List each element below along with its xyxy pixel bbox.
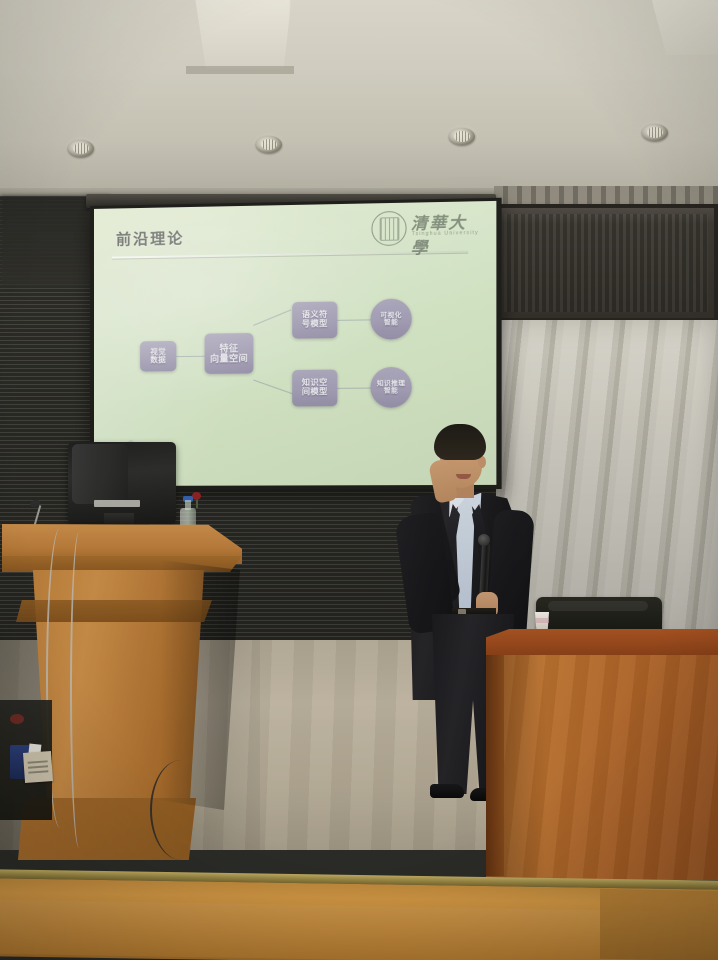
stage-front-right (600, 889, 718, 960)
av-cable (150, 760, 212, 860)
ceiling (0, 0, 718, 196)
diagram-node: 知识空 间模型 (292, 370, 337, 407)
flower-stem (196, 499, 198, 508)
av-cable (70, 532, 88, 848)
microphone-head (478, 534, 490, 546)
red-flower (192, 492, 201, 500)
equipment-tag (23, 751, 53, 783)
diagram-edge (337, 388, 370, 389)
diagram-edge (337, 319, 370, 320)
monitor-back-panel (72, 444, 128, 504)
paper-cup-band (535, 618, 549, 623)
lecture-hall-photo: 前沿理论 清華大學 Tsinghua University 视觉 数据 (0, 0, 718, 960)
diagram-node: 知识推理 智能 (370, 367, 411, 408)
shoe-left (430, 784, 464, 798)
diagram-edge (176, 356, 204, 357)
hair (434, 424, 486, 460)
recessed-downlight (68, 140, 94, 157)
monitor-label (94, 500, 140, 507)
recessed-downlight (449, 128, 475, 145)
diagram-node: 视觉 数据 (140, 341, 176, 372)
recessed-downlight (256, 136, 282, 153)
equipment-indicator (10, 714, 24, 724)
diagram-edge (253, 309, 291, 326)
diagram-edge (253, 380, 294, 395)
coffer-shadow (186, 66, 294, 74)
diagram-node: 特征 向量空间 (205, 333, 254, 374)
window-valance (494, 204, 718, 322)
recessed-downlight (642, 124, 668, 141)
desk-shadow (486, 650, 546, 880)
chair-highlight (548, 601, 648, 611)
diagram-node: 可视化 智能 (370, 298, 411, 339)
diagram-node: 语义符 号模型 (292, 302, 337, 339)
wooden-desk-top (486, 629, 718, 655)
